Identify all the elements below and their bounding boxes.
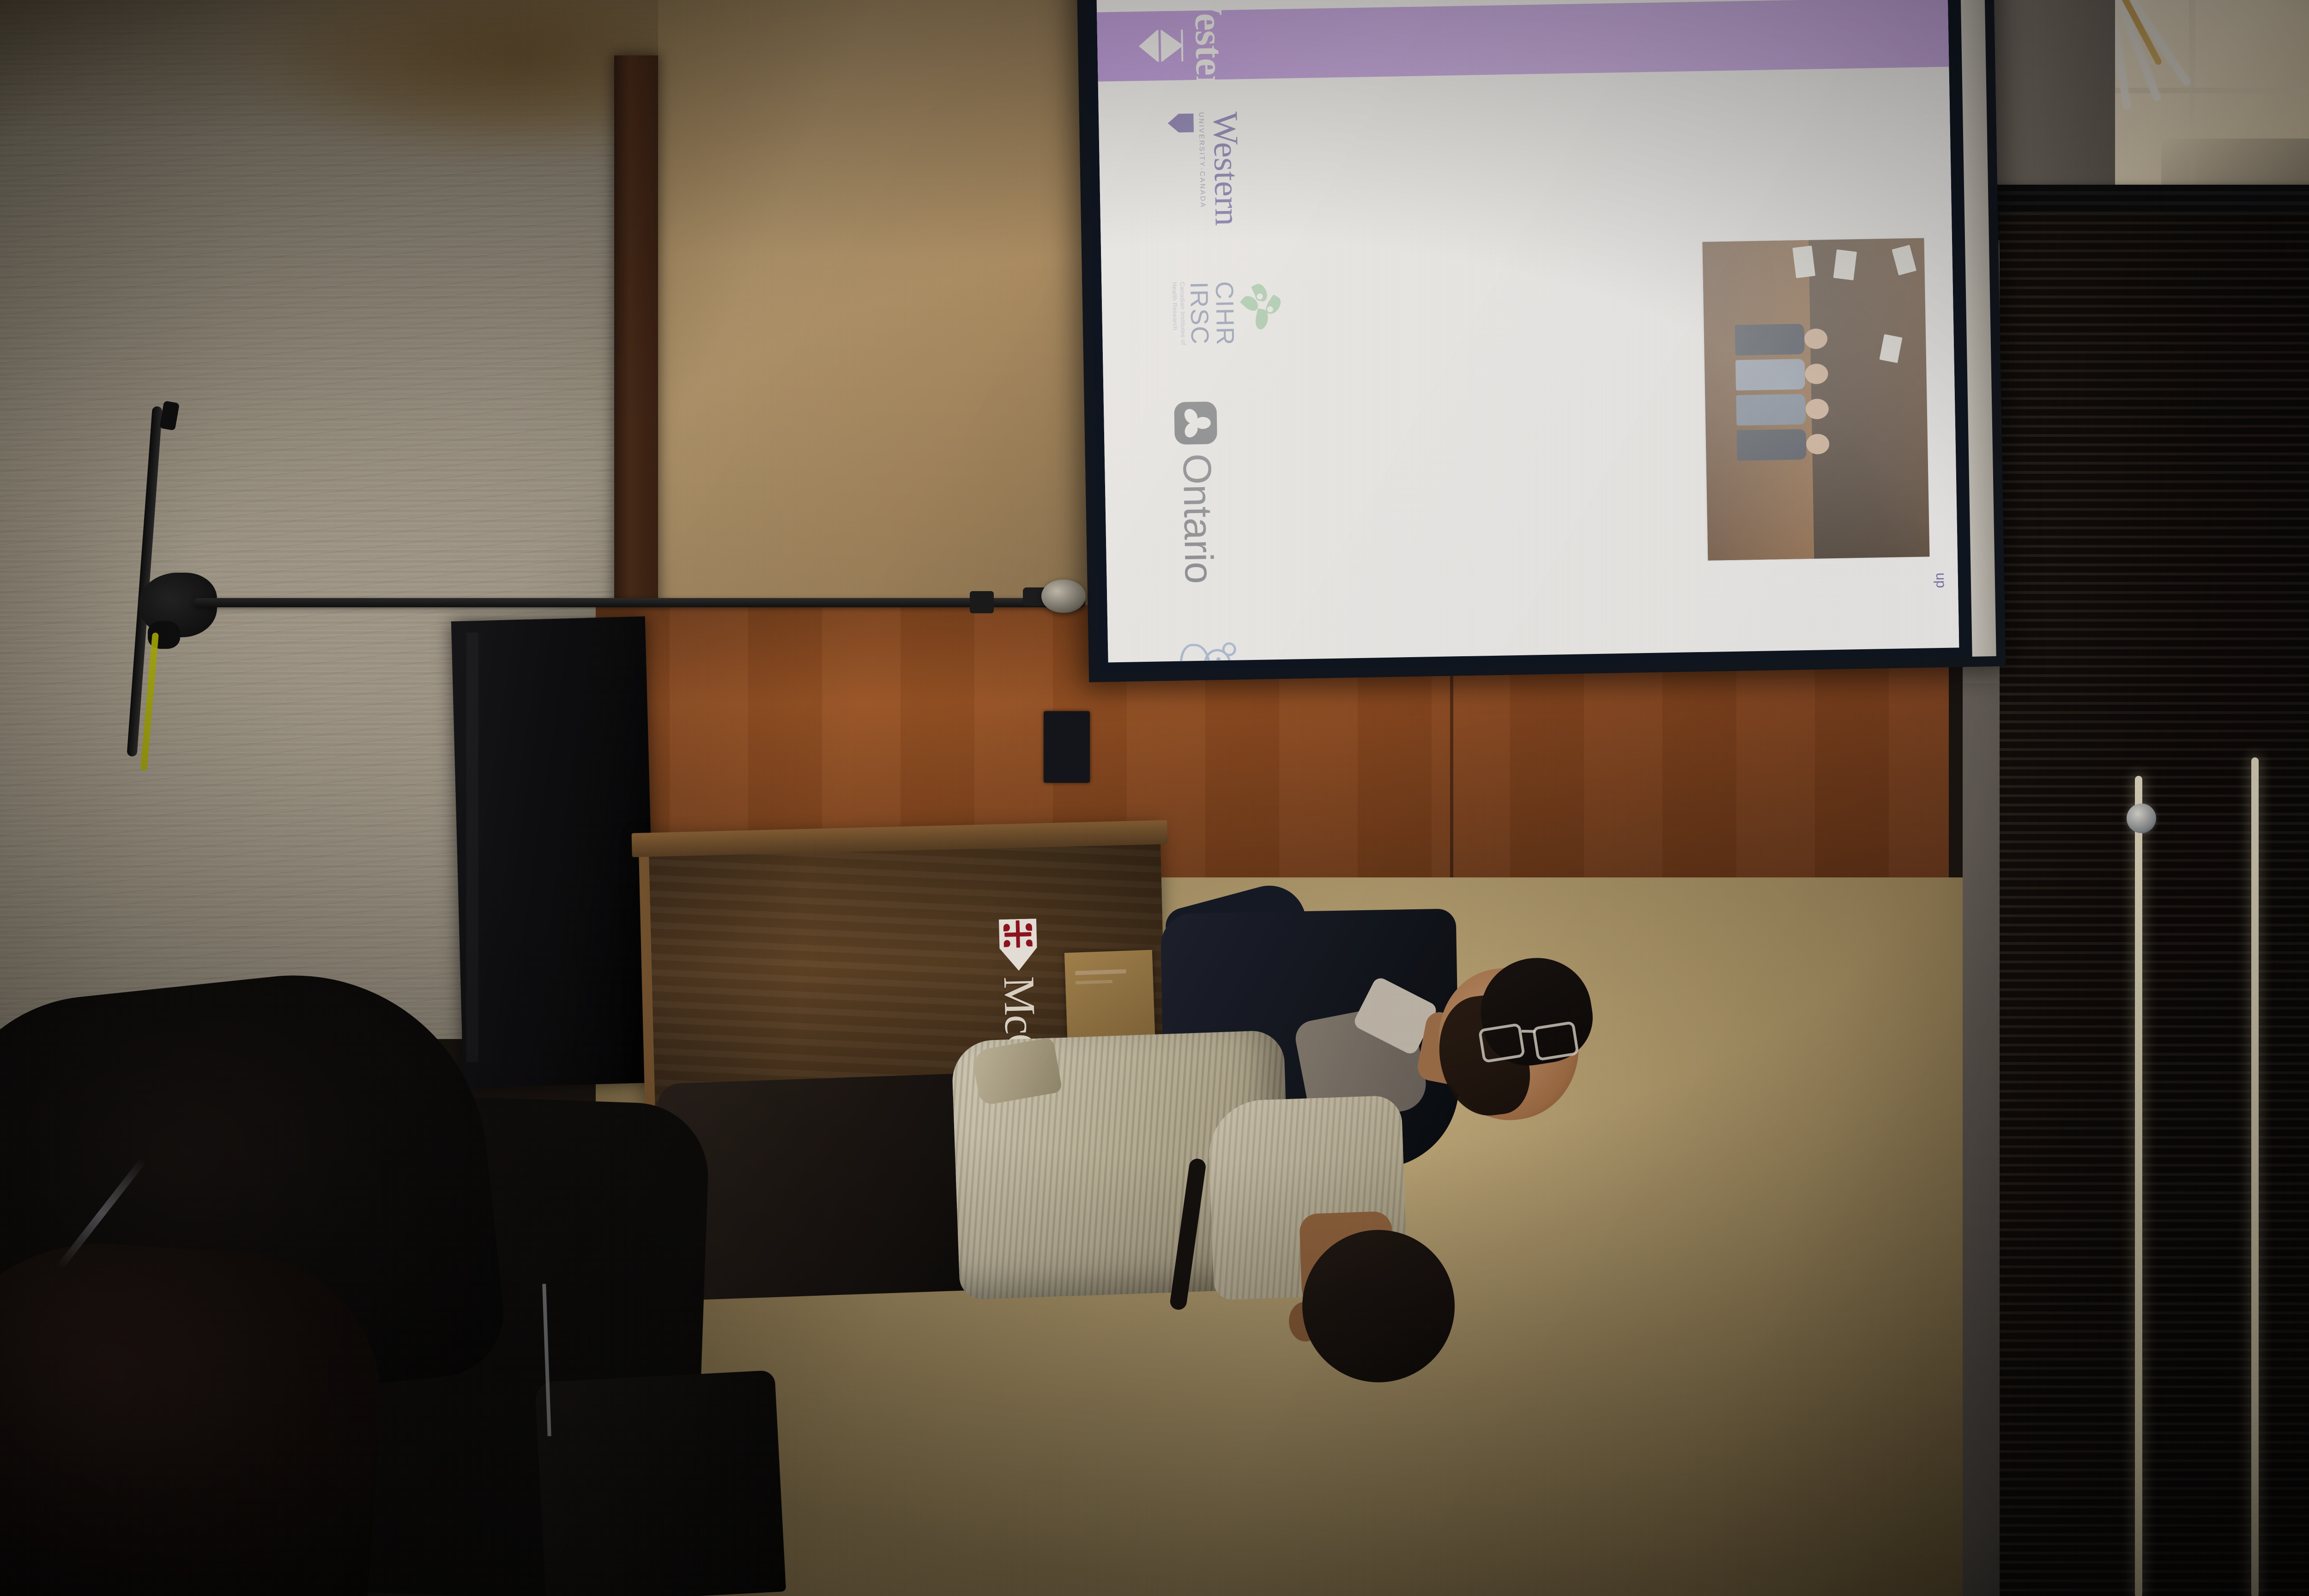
- wall-plate: [1044, 711, 1090, 783]
- audience-chair: [535, 1370, 786, 1596]
- slide-group-photo: [1702, 238, 1929, 561]
- slide-surface: Western: [1097, 0, 1959, 662]
- western-shield-icon: [1138, 27, 1183, 64]
- cihr-people-leaf-icon: [1238, 280, 1283, 337]
- logo-cihr-wordmark-fr: IRSC: [1185, 282, 1213, 345]
- black-drape: [451, 617, 657, 1088]
- mcgill-shield-icon: [996, 919, 1040, 971]
- logo-western-subtitle: UNIVERSITY·CANADA: [1197, 112, 1207, 209]
- logo-childrens-health-research-institute: Children's HEALTH RESEARCH INSTITUTE: [1177, 638, 1250, 662]
- slide-content: Western: [1097, 0, 1959, 650]
- logo-cihr-wordmark-en: CIHR: [1210, 281, 1239, 346]
- slide-photo-papers: [1924, 238, 1929, 557]
- slide-sidebar: Western: [1097, 0, 1950, 82]
- slide-photo-caption: up: [1933, 573, 1949, 588]
- childrens-bear-icon: [1177, 638, 1247, 662]
- slide-acknowledgement-logos: Western UNIVERSITY·CANADA CIHR IRSC Cana…: [1167, 83, 1288, 621]
- western-shield-icon: [1167, 112, 1194, 134]
- drape-highlight: [466, 633, 478, 1062]
- wood-trim-column: [614, 55, 658, 614]
- logo-ontario-wordmark: Ontario: [1173, 453, 1221, 584]
- screen-bezel: [1960, 0, 1996, 657]
- logo-western: Western UNIVERSITY·CANADA: [1167, 111, 1244, 227]
- photograph-canvas: Western: [0, 0, 2309, 1596]
- logo-ontario: Ontario: [1173, 401, 1221, 584]
- ontario-trillium-icon: [1174, 401, 1217, 445]
- microphone-boom-arm: [194, 598, 1085, 607]
- beige-wall-upper: [658, 0, 1148, 642]
- microphone-icon: [1041, 580, 1086, 613]
- logo-western-wordmark: Western: [1209, 111, 1244, 226]
- led-strip-light: [2251, 757, 2259, 1596]
- logo-cihr-subtitle: Canadian Institutes of Health Research: [1171, 282, 1187, 345]
- wall-disc-fixture: [2127, 804, 2156, 833]
- logo-cihr: CIHR IRSC Canadian Institutes of Health …: [1170, 280, 1283, 347]
- projection-screen[interactable]: Western: [1077, 0, 2006, 682]
- led-strip-light: [2135, 776, 2142, 1596]
- microphone-boom-clamp: [970, 591, 994, 613]
- logo-cihr-text: CIHR IRSC Canadian Institutes of Health …: [1170, 281, 1237, 347]
- dark-ribbed-wall: [2000, 212, 2309, 1596]
